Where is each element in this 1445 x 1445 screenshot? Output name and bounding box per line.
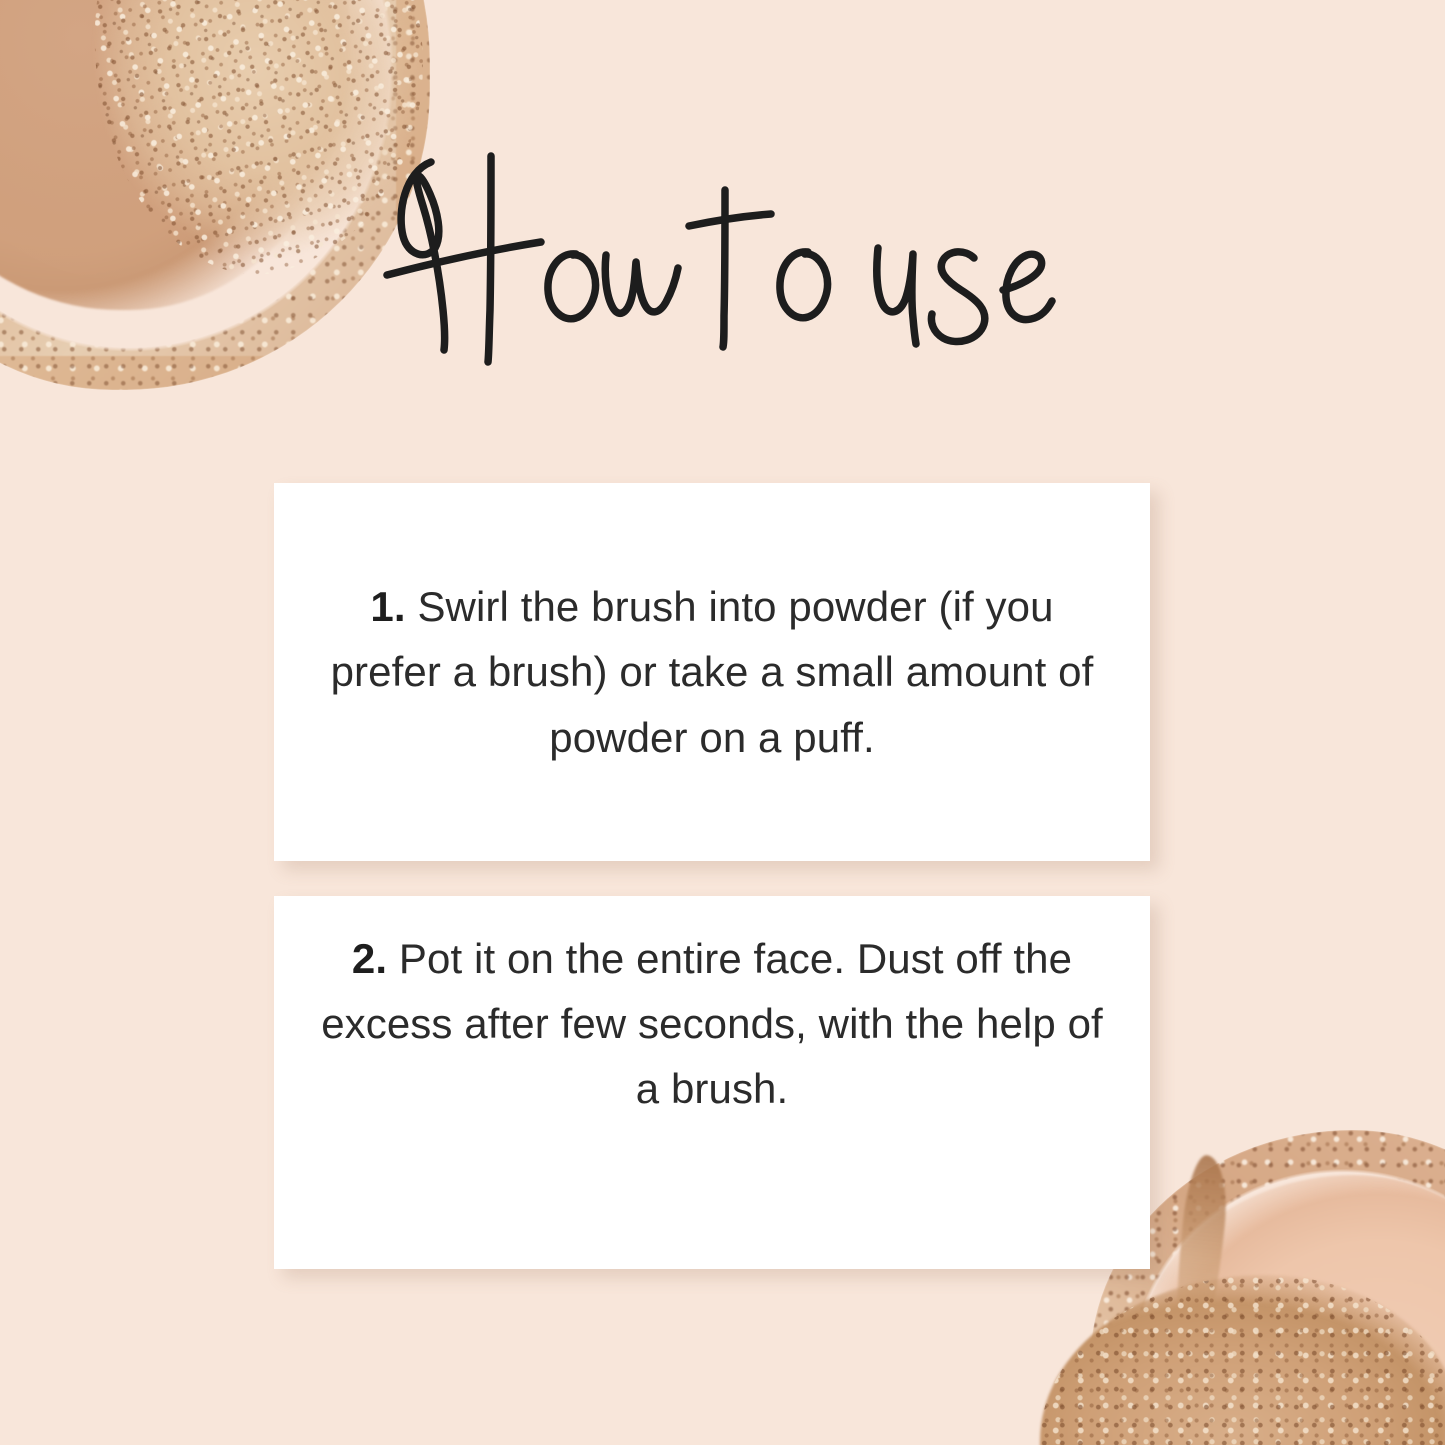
step-2-text: 2. Pot it on the entire face. Dust off t…	[320, 926, 1104, 1121]
powder-streak-bottom-right-icon	[1166, 1153, 1232, 1386]
step-card-2: 2. Pot it on the entire face. Dust off t…	[274, 896, 1150, 1269]
step-card-1: 1. Swirl the brush into powder (if you p…	[274, 483, 1150, 861]
step-1-body: Swirl the brush into powder (if you pref…	[331, 583, 1094, 760]
powder-mound-grain-icon	[1040, 1275, 1445, 1445]
page-title-script-icon	[373, 150, 1073, 380]
powder-mound-bottom-right-icon	[1040, 1275, 1445, 1445]
powder-swatch-bottom-right-icon	[1135, 1175, 1445, 1445]
page-title	[0, 150, 1445, 385]
step-1-text: 1. Swirl the brush into powder (if you p…	[320, 574, 1104, 769]
how-to-use-graphic: 1. Swirl the brush into powder (if you p…	[0, 0, 1445, 1445]
step-2-number: 2.	[352, 935, 387, 982]
step-1-number: 1.	[370, 583, 405, 630]
step-2-body: Pot it on the entire face. Dust off the …	[321, 935, 1103, 1112]
